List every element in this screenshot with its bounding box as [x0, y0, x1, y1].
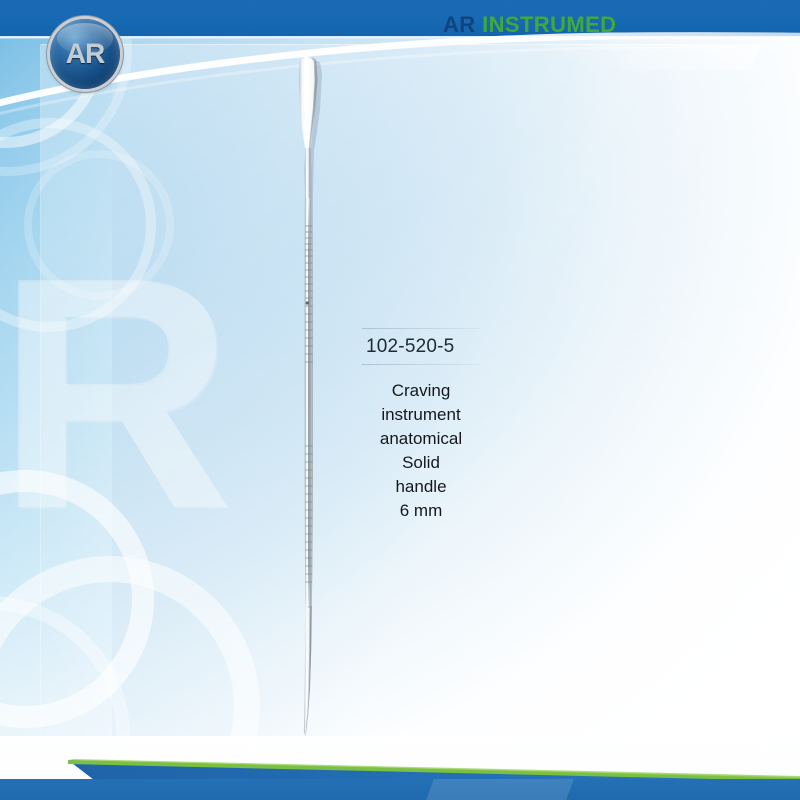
info-divider-top [362, 328, 480, 329]
footer-brand-name: INSTRUMED [482, 12, 616, 37]
footer-brand-prefix: AR [443, 12, 476, 37]
description-line: handle [360, 475, 482, 499]
footer-bar-highlight [426, 779, 574, 800]
footer-brand: AR INSTRUMED [443, 12, 616, 38]
instrument-image [252, 50, 372, 740]
description-line: instrument [360, 403, 482, 427]
description-line: 6 mm [360, 499, 482, 523]
footer-bottom-bar [0, 779, 800, 800]
product-code: 102-520-5 [360, 336, 590, 358]
description-line: Craving [360, 379, 482, 403]
info-divider-bottom [362, 364, 480, 365]
description-line: anatomical [360, 427, 482, 451]
product-description: Craving instrument anatomical Solid hand… [360, 379, 482, 524]
ar-logo-badge[interactable]: AR [50, 19, 120, 89]
product-info: 102-520-5 Craving instrument anatomical … [360, 328, 590, 524]
description-line: Solid [360, 451, 482, 475]
ar-logo-text: AR [66, 38, 104, 70]
product-card: R AR [0, 0, 800, 800]
header-swoosh-icon [0, 6, 800, 156]
